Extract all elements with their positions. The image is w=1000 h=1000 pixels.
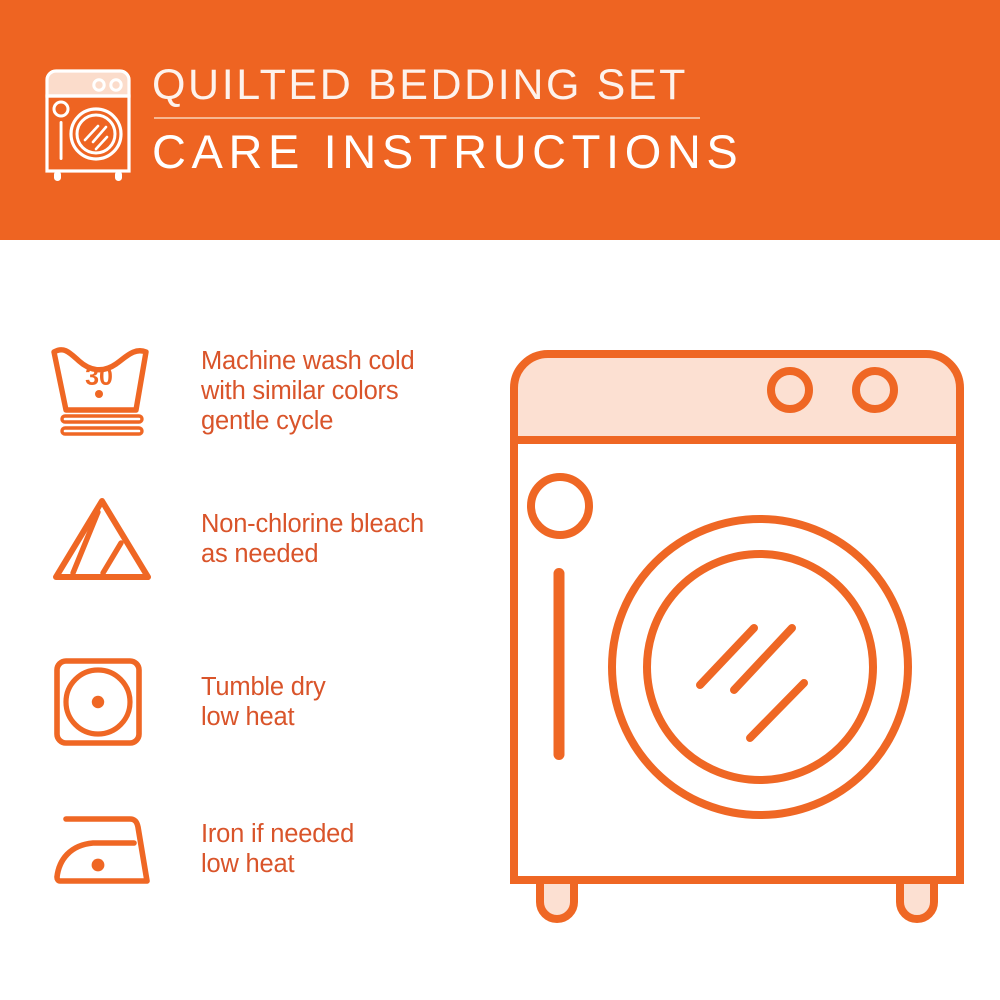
care-text-line: Iron if needed bbox=[201, 819, 354, 849]
care-row-machine-wash: 30 Machine wash cold with similar colors… bbox=[48, 340, 478, 442]
care-text-line: low heat bbox=[201, 849, 354, 879]
page-subtitle: CARE INSTRUCTIONS bbox=[152, 127, 743, 177]
care-text-line: gentle cycle bbox=[201, 406, 414, 436]
washing-machine-illustration bbox=[492, 340, 982, 940]
care-text-iron: Iron if needed low heat bbox=[201, 819, 354, 879]
care-text-line: as needed bbox=[201, 539, 424, 569]
tumble-dry-icon bbox=[48, 652, 148, 752]
leg-right bbox=[900, 880, 934, 919]
care-text-line: Non-chlorine bleach bbox=[201, 509, 424, 539]
care-symbol-wrapper bbox=[48, 493, 166, 585]
main-content: 30 Machine wash cold with similar colors… bbox=[0, 240, 1000, 1000]
care-symbol-wrapper bbox=[48, 805, 166, 893]
care-row-tumble-dry: Tumble dry low heat bbox=[48, 652, 478, 752]
care-text-line: Machine wash cold bbox=[201, 346, 414, 376]
care-row-bleach: Non-chlorine bleach as needed bbox=[48, 493, 478, 585]
care-symbol-wrapper bbox=[48, 652, 166, 752]
care-row-iron: Iron if needed low heat bbox=[48, 805, 478, 893]
header-divider bbox=[154, 117, 700, 119]
washing-machine-icon bbox=[42, 66, 134, 184]
care-text-line: Tumble dry bbox=[201, 672, 326, 702]
handle-bar[interactable] bbox=[554, 568, 565, 760]
header-banner: QUILTED BEDDING SET CARE INSTRUCTIONS bbox=[0, 0, 1000, 240]
care-symbol-wrapper: 30 bbox=[48, 340, 166, 442]
care-text-bleach: Non-chlorine bleach as needed bbox=[201, 509, 424, 569]
header-title-block: QUILTED BEDDING SET CARE INSTRUCTIONS bbox=[152, 60, 743, 177]
wash-tub-icon: 30 bbox=[48, 340, 158, 442]
care-instruction-list: 30 Machine wash cold with similar colors… bbox=[0, 240, 490, 1000]
iron-icon bbox=[48, 805, 160, 893]
header-content: QUILTED BEDDING SET CARE INSTRUCTIONS bbox=[42, 60, 743, 184]
wash-temperature-label: 30 bbox=[85, 363, 113, 391]
care-text-line: with similar colors bbox=[201, 376, 414, 406]
bleach-triangle-icon bbox=[48, 493, 156, 585]
care-text-line: low heat bbox=[201, 702, 326, 732]
care-text-tumble-dry: Tumble dry low heat bbox=[201, 672, 326, 732]
leg-left bbox=[540, 880, 574, 919]
page-title: QUILTED BEDDING SET bbox=[152, 62, 688, 108]
care-text-machine-wash: Machine wash cold with similar colors ge… bbox=[201, 346, 414, 436]
